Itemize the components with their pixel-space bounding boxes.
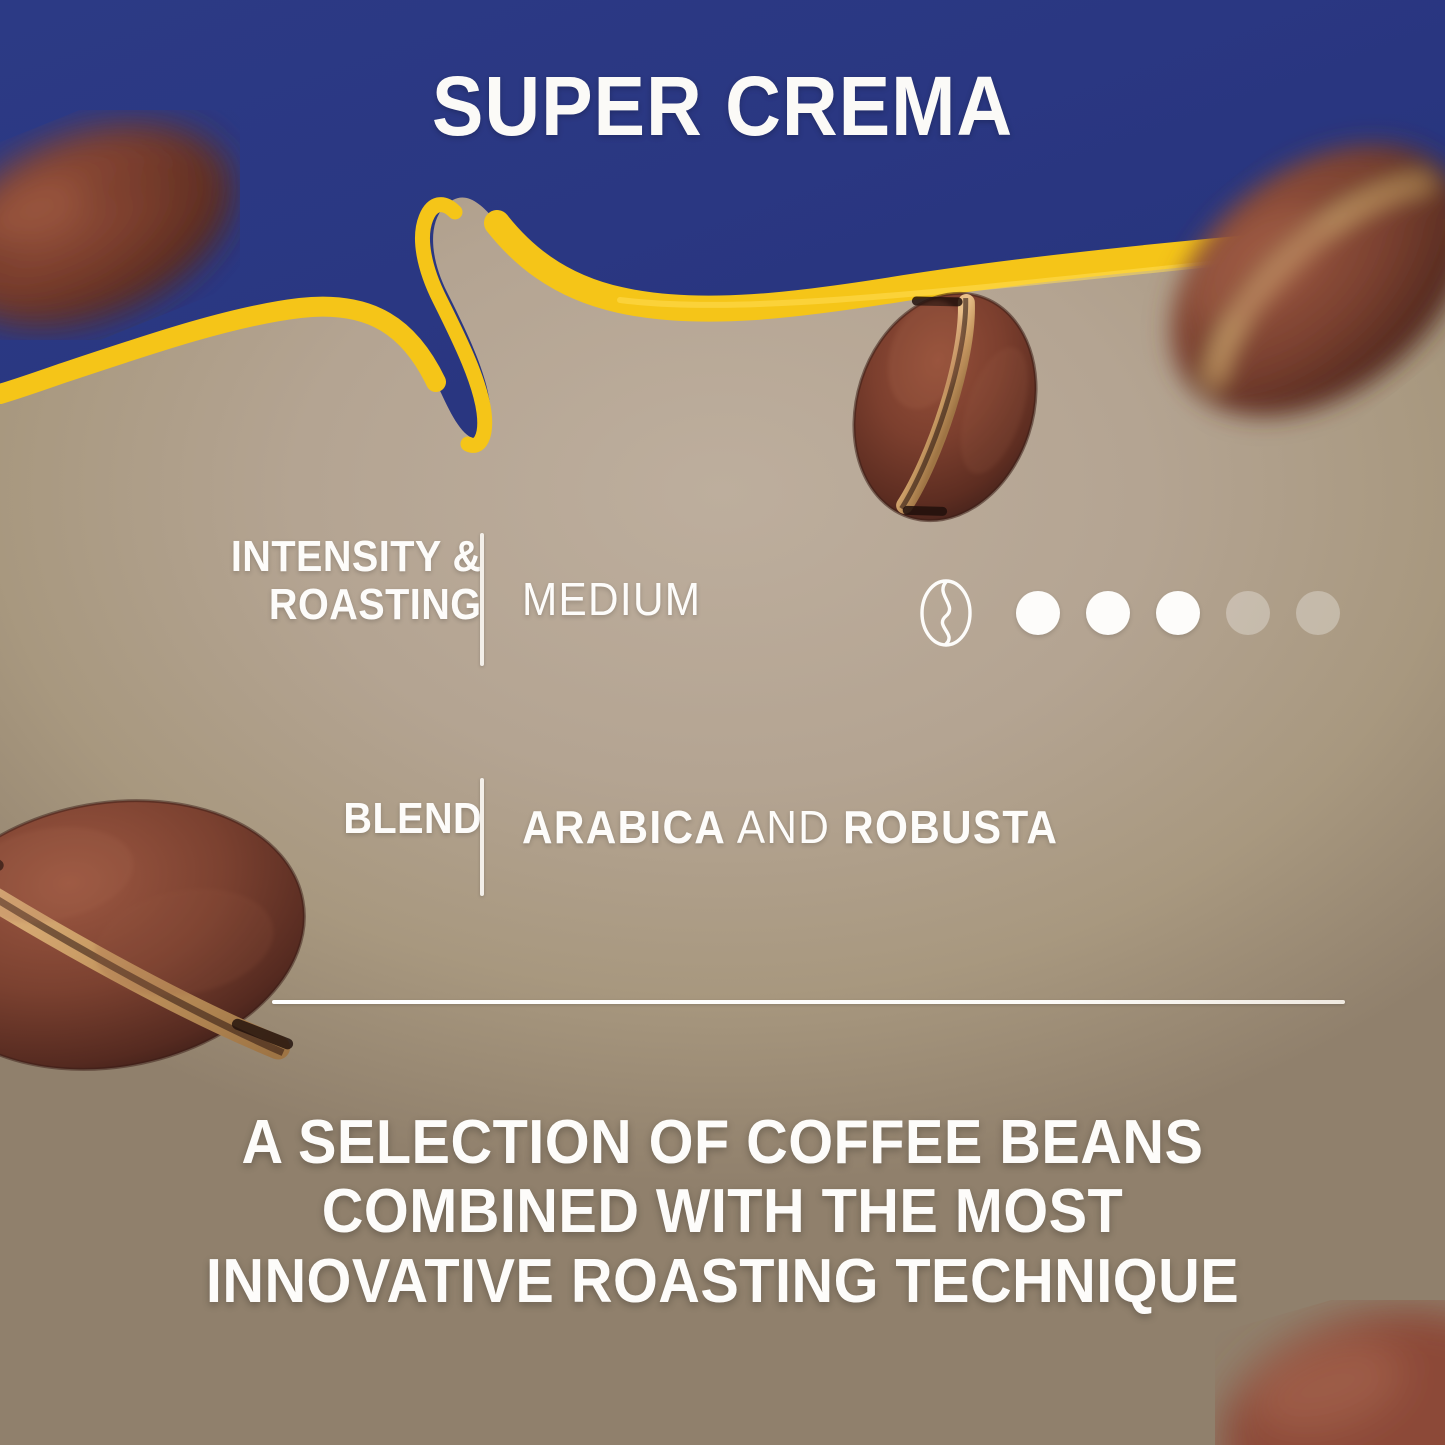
intensity-value: MEDIUM [522,572,701,626]
spec-label-blend: BLEND [0,795,482,843]
page-title: SUPER CREMA [58,58,1387,155]
blend-value-robusta: ROBUSTA [843,801,1058,853]
intensity-label-line2: ROASTING [231,581,482,629]
rating-dot-1 [1016,591,1060,635]
divider-intensity [480,533,484,666]
coffee-bean-outline-icon [918,578,974,648]
tagline-line-3: INNOVATIVE ROASTING TECHNIQUE [51,1247,1395,1316]
tagline-line-1: A SELECTION OF COFFEE BEANS [51,1108,1395,1177]
product-info-poster: SUPER CREMA INTENSITY & ROASTING MEDIUM … [0,0,1445,1445]
blend-value-and: AND [737,801,830,853]
blend-value: ARABICA AND ROBUSTA [522,800,1058,854]
intensity-rating [918,578,1340,648]
intensity-label-line1: INTENSITY & [231,533,482,581]
rating-dot-4 [1226,591,1270,635]
section-divider [272,1000,1345,1004]
intensity-label: INTENSITY & ROASTING [231,533,482,628]
divider-blend [480,778,484,896]
spec-label-intensity: INTENSITY & ROASTING [0,533,482,628]
tagline: A SELECTION OF COFFEE BEANS COMBINED WIT… [51,1108,1395,1316]
blend-value-arabica: ARABICA [522,801,726,853]
rating-dot-3 [1156,591,1200,635]
rating-dot-2 [1086,591,1130,635]
rating-dot-5 [1296,591,1340,635]
tagline-line-2: COMBINED WITH THE MOST [51,1177,1395,1246]
blend-label: BLEND [343,795,482,843]
